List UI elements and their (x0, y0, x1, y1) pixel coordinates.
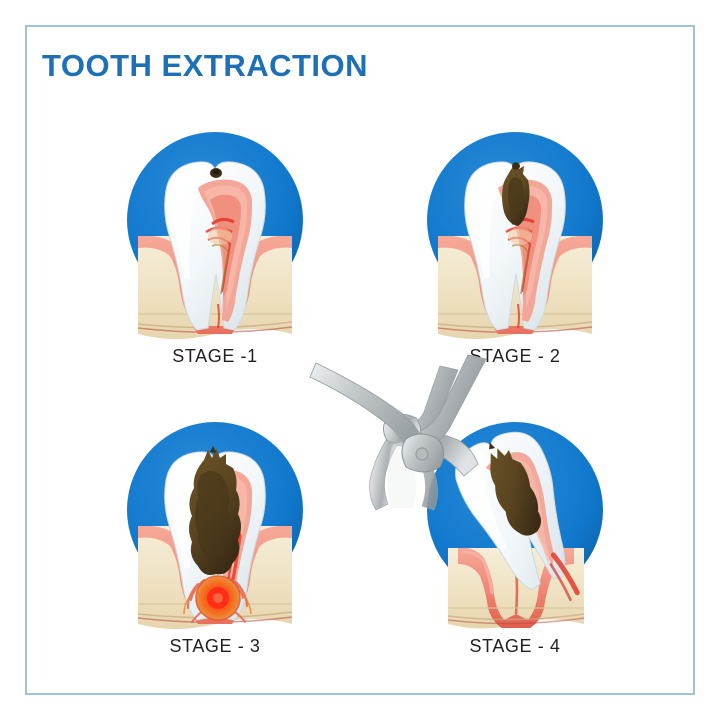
stage-1-label: STAGE -1 (100, 346, 330, 367)
stage-4-label: STAGE - 4 (400, 636, 630, 657)
tooth-diagram-stage-3 (100, 418, 330, 636)
stage-1-decay-spot (210, 168, 222, 178)
forceps-handle-right (420, 355, 486, 447)
tooth-diagram-stage-1 (100, 128, 330, 346)
stage-panel-1: STAGE -1 (100, 128, 330, 378)
stage-3-illustration (100, 418, 330, 636)
tooth-diagram-stage-2 (400, 128, 630, 346)
stage-3-label: STAGE - 3 (100, 636, 330, 657)
stage-2-illustration (400, 128, 630, 346)
stage-panel-3: STAGE - 3 (100, 418, 330, 668)
stage-panel-2: STAGE - 2 (400, 128, 630, 378)
infographic-poster: TOOTH EXTRACTION (0, 0, 720, 720)
forceps-handles-overlay (300, 355, 520, 485)
page-title: TOOTH EXTRACTION (42, 48, 368, 84)
stage-1-illustration (100, 128, 330, 346)
forceps-pivot-pin (416, 448, 428, 460)
